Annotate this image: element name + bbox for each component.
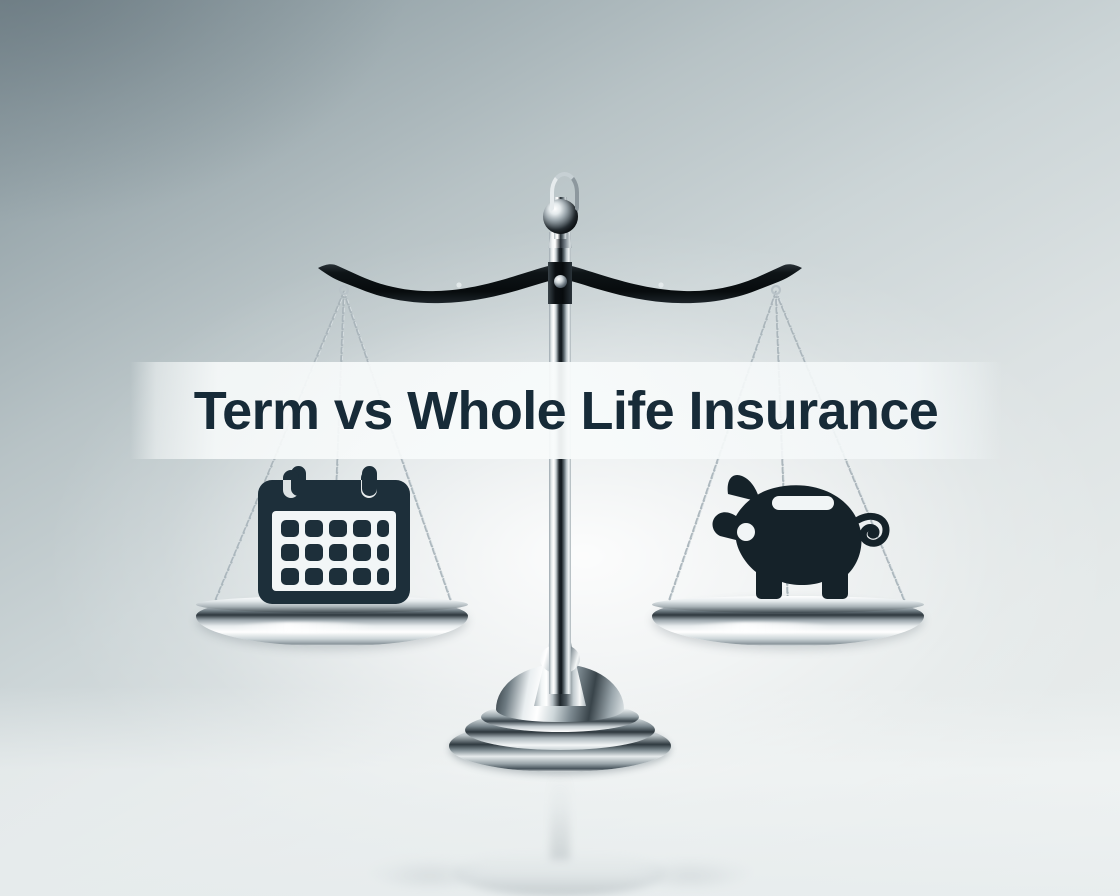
calendar-icon bbox=[258, 466, 410, 608]
left-pan-highlight bbox=[230, 622, 380, 633]
image-canvas: Term vs Whole Life Insurance bbox=[0, 0, 1120, 896]
piggy-bank-icon bbox=[706, 470, 892, 610]
title-band: Term vs Whole Life Insurance bbox=[130, 362, 1002, 459]
page-title: Term vs Whole Life Insurance bbox=[194, 380, 938, 442]
right-pan-highlight bbox=[686, 622, 836, 633]
